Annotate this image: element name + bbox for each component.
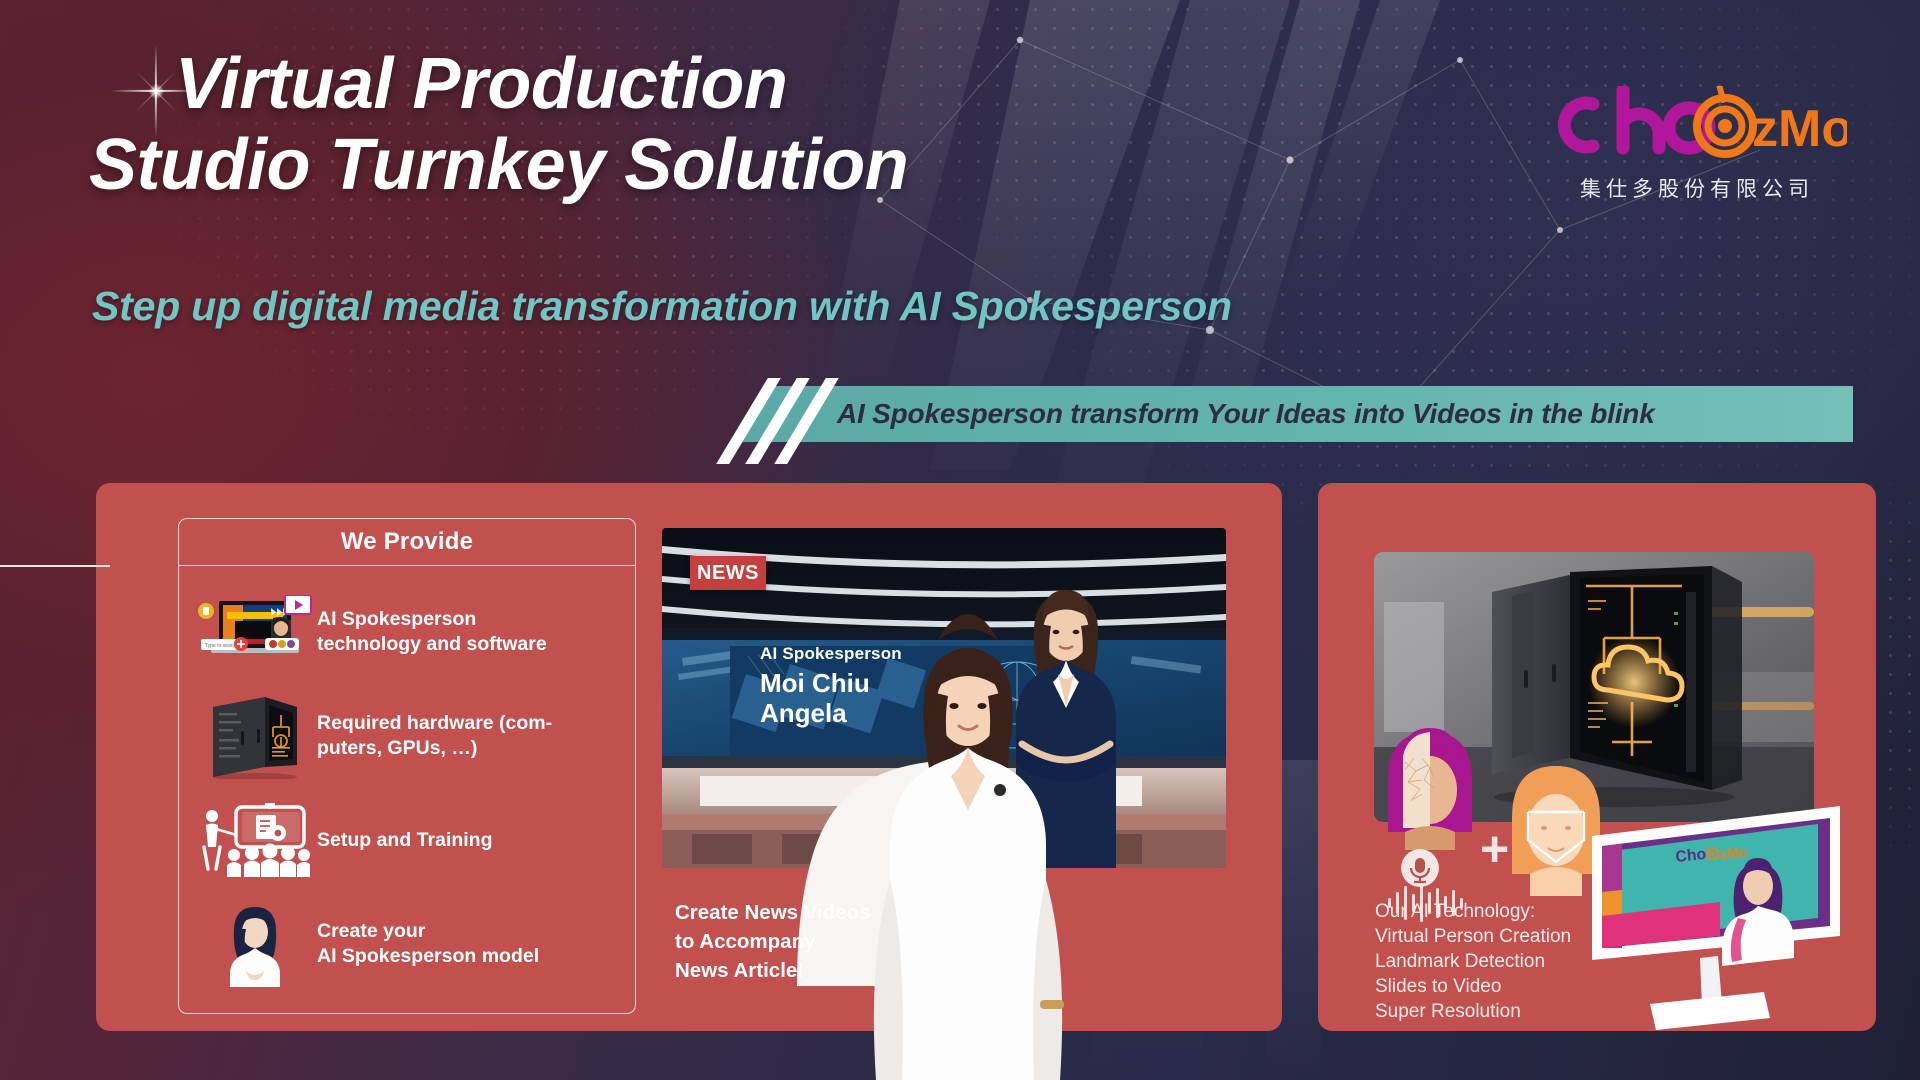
list-item-label: Required hardware (com- puters, GPUs, …) [317, 711, 552, 761]
logo-zmo-text: zMo [1752, 100, 1847, 158]
we-provide-title: We Provide [179, 519, 635, 566]
list-item[interactable]: Required hardware (com- puters, GPUs, …) [179, 684, 635, 788]
brand-logo: zMo 集仕多股份有限公司 [1532, 86, 1862, 203]
lower-third-name: Moi Chiu Angela [760, 668, 1040, 728]
choozmo-logo-icon: zMo [1547, 86, 1847, 164]
target-spiral-icon [1697, 86, 1753, 154]
we-provide-list: Type to search AI Spokesperson technolog… [179, 566, 635, 996]
lower-third-role: AI Spokesperson [760, 644, 1040, 664]
laptop-video-icon: Type to search [193, 595, 317, 669]
page-subtitle: Step up digital media transformation wit… [92, 283, 1492, 330]
list-item-label: AI Spokesperson technology and software [317, 607, 547, 657]
page-title: Virtual Production Studio Turnkey Soluti… [175, 44, 1355, 205]
tagline-text: AI Spokesperson transform Your Ideas int… [837, 398, 1655, 430]
center-panel-caption: Create News Videos to Accompany News Art… [675, 898, 965, 985]
headline-line-2: Studio Turnkey Solution [89, 125, 1355, 206]
news-badge: NEWS [690, 556, 766, 590]
decorative-rule [0, 565, 110, 567]
we-provide-card: We Provide [178, 518, 636, 1014]
list-item[interactable]: Type to search AI Spokesperson technolog… [179, 580, 635, 684]
training-presenter-icon [193, 803, 317, 877]
logo-chinese-name: 集仕多股份有限公司 [1532, 173, 1862, 203]
headline-line-1: Virtual Production [175, 44, 1355, 125]
server-cloud-graphic [1374, 552, 1814, 822]
datacenter-photo [1374, 552, 1814, 822]
right-panel-caption: Our AI Technology: Virtual Person Creati… [1375, 900, 1665, 1024]
list-item[interactable]: Setup and Training [179, 788, 635, 892]
server-rack-icon [193, 693, 317, 779]
list-item[interactable]: Create your AI Spokesperson model [179, 892, 635, 996]
lower-third-caption: AI Spokesperson Moi Chiu Angela [748, 630, 1040, 764]
list-item-label: Create your AI Spokesperson model [317, 919, 539, 969]
female-avatar-icon [193, 901, 317, 987]
tagline-banner: AI Spokesperson transform Your Ideas int… [735, 386, 1853, 442]
list-item-label: Setup and Training [317, 828, 493, 853]
poster-canvas: Virtual Production Studio Turnkey Soluti… [0, 0, 1920, 1080]
svg-text:Type to search: Type to search [205, 643, 238, 649]
